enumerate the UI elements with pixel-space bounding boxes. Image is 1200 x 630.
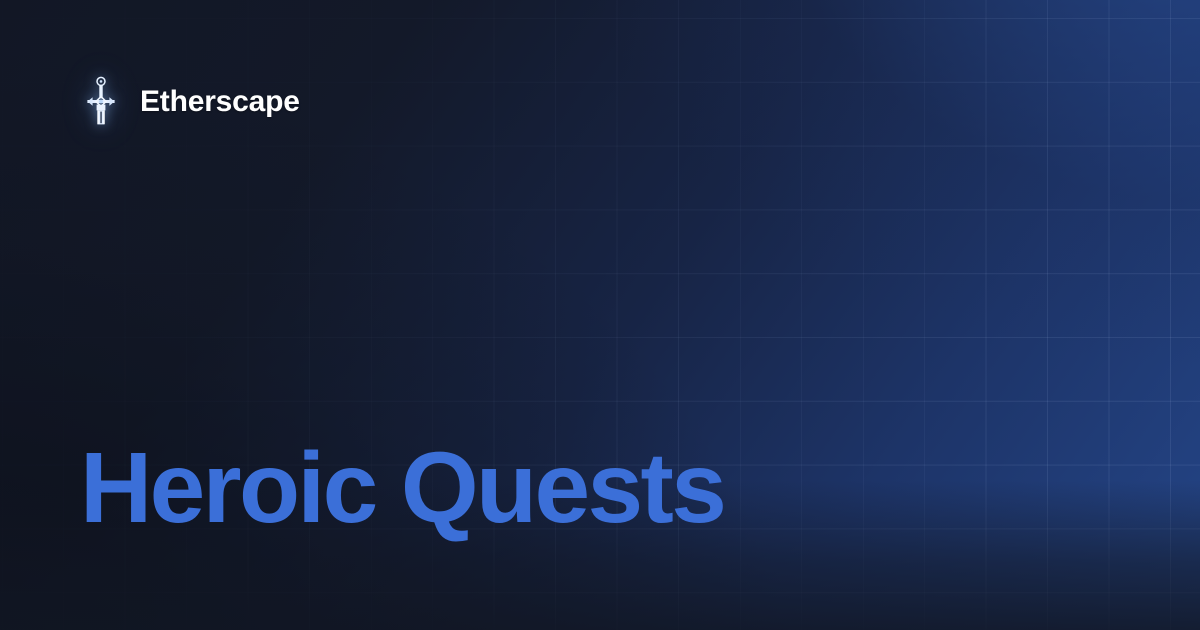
og-card: Etherscape Heroic Quests	[0, 0, 1200, 630]
brand-name: Etherscape	[140, 87, 300, 117]
brand: Etherscape	[84, 76, 300, 128]
sword-icon	[84, 76, 118, 128]
page-title: Heroic Quests	[80, 434, 724, 542]
